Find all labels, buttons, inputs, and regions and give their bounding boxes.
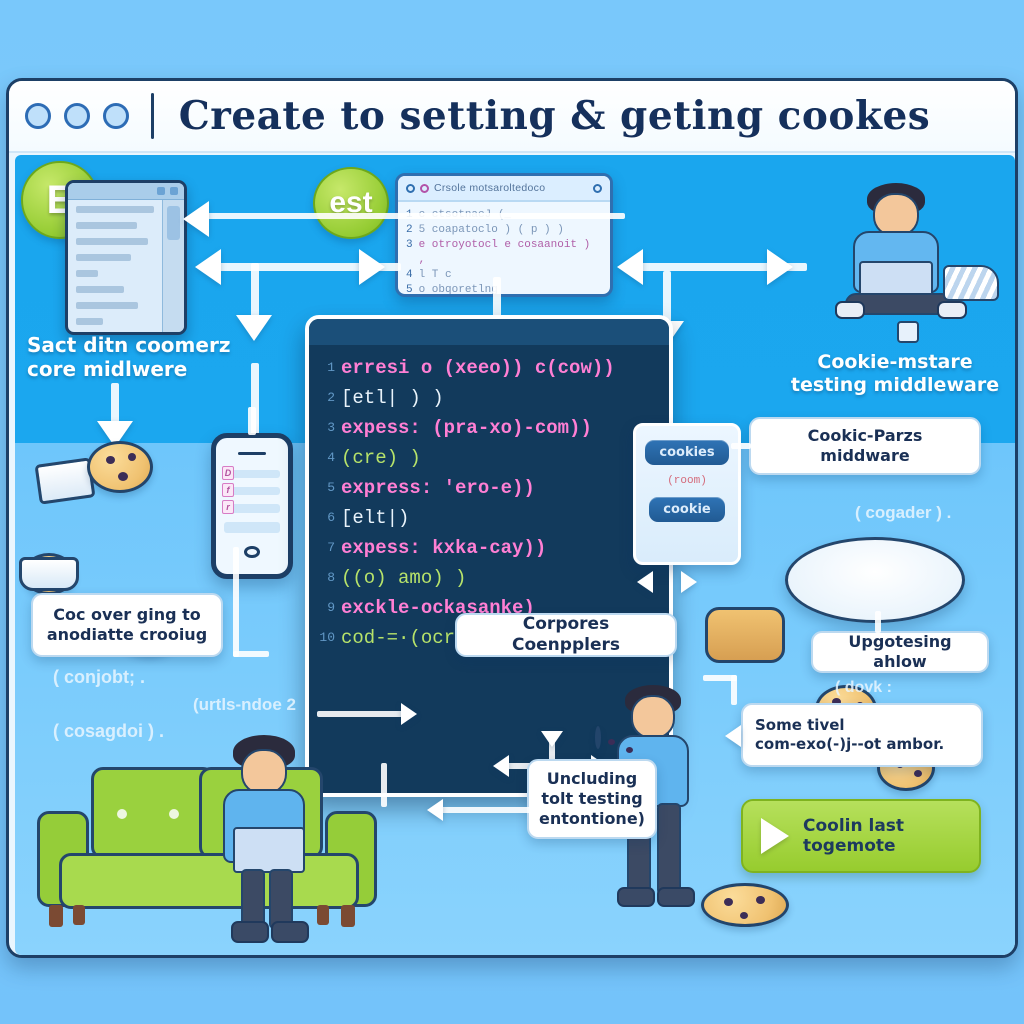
window-dot-3[interactable] [103,103,129,129]
sact-ditn-core-middleware-label: Sact ditn coomerz core midlwere [27,333,257,381]
line-number: 8 [315,563,335,593]
list-row [76,270,98,277]
list-row [76,206,154,213]
connector-line [875,611,881,633]
connector-line [233,651,269,657]
list-row [76,238,148,245]
sofa-cushion [91,767,215,859]
row-badge-icon: D [222,466,234,480]
arrow-head-left-icon [427,799,443,821]
papers-shape [943,265,999,301]
minimize-icon[interactable] [157,187,165,195]
arrow-head-left-icon [637,571,653,593]
list-window-rows [68,200,162,335]
console-line: 4l T c [406,268,602,283]
shoe-shape [617,887,655,907]
cushion-button [117,809,127,819]
row-badge-icon: r [222,500,234,514]
head-shape [631,695,675,739]
row-badge-icon: f [222,483,234,497]
editor-gutter: 1 2 3 4 5 6 7 8 9 10 [315,353,341,653]
arrow-head-right-icon [681,571,697,593]
page-title: Create to setting & geting cookes [154,93,1015,139]
line-number: 7 [315,533,335,563]
list-row [76,222,137,229]
console-titlebar: Crsole motsaroltedoco [398,176,610,202]
person-on-sofa-illustration [211,735,331,945]
connector-line [233,547,239,657]
code-line: [etl| ) ) [341,383,663,413]
phone-notch [238,452,266,455]
arrow-head-right-icon [401,703,417,725]
shoe-shape [937,301,967,319]
maximize-icon[interactable] [170,187,178,195]
sofa-leg [73,905,85,925]
upgotesing-callout[interactable]: Upgotesing ahlow [811,631,989,673]
cookie-plate [785,537,965,623]
leg-shape [241,869,265,929]
code-line: erresi o (xeeo)) c(cow)) [341,353,663,383]
cookie-pill-button[interactable]: cookie [649,497,725,522]
arrow-head-left-icon [493,755,509,777]
connector-line [441,807,533,813]
arrow-head-right-icon [359,249,385,285]
cookie-parser-callout[interactable]: Cookic-Parzs middware [749,417,981,475]
line-text: e otroyotocl e cosaanoit ) , [419,238,602,268]
urtle-ndoe-label: (urtls-ndoe 2 [193,695,296,715]
person-with-laptop-illustration [825,175,985,325]
line-text: l T c [419,268,452,283]
line-number: 2 [406,223,413,238]
badge-est: est [313,167,389,239]
connector-line [731,443,751,449]
window-titlebar: Create to setting & geting cookes [9,81,1015,153]
cos-over-ging-callout[interactable]: Coc over ging to anodiatte crooiug [31,593,223,657]
connector-line [731,675,737,705]
connector-line [251,263,259,319]
console-line: 3e otroyotocl e cosaanoit ) , [406,238,602,268]
connector-line [381,763,387,807]
line-number: 3 [315,413,335,443]
chip-panel-note: (room) [667,475,707,487]
held-cookie-icon [595,726,601,749]
code-line: expess: (pra-xo)-com)) [341,413,663,443]
cup-shape [897,321,919,343]
phone-list-row[interactable]: r [224,504,280,512]
line-number: 4 [315,443,335,473]
corpores-callout[interactable]: Corpores Coenpplers [455,613,677,657]
sofa-leg [341,905,355,927]
line-number: 2 [315,383,335,413]
cookies-pill-button[interactable]: cookies [645,440,728,465]
console-line: 5o obqoretlng [406,283,602,297]
line-number: 10 [315,623,335,653]
browser-window: Create to setting & geting cookes E [6,78,1018,958]
play-icon [761,818,789,854]
line-number: 5 [406,283,413,297]
phone-home-button[interactable] [244,546,260,558]
cogader-label: ( cogader ) . [855,503,951,523]
arrow-head-left-icon [617,249,643,285]
code-list-window[interactable] [65,180,187,335]
arrow-head-right-icon [767,249,793,285]
line-text: 5 coapatoclo ) ( p ) ) [419,223,564,238]
console-title: Crsole motsaroltedoco [434,182,588,194]
cushion-button [169,809,179,819]
code-line: expess: kxka-cay)) [341,533,663,563]
cta-label: Coolin last togemote [803,816,904,857]
phone-list-row[interactable] [224,522,280,533]
line-number: 6 [315,503,335,533]
console-code-window[interactable]: Crsole motsaroltedoco 1c ctsotnacJ (_ 25… [395,173,613,297]
window-dot-icon[interactable] [420,184,429,193]
list-row [76,318,103,325]
line-number: 4 [406,268,413,283]
cookie-testing-middleware-label: Cookie-mstare testing middleware [777,351,1013,397]
code-line: express: 'ero-e)) [341,473,663,503]
close-icon[interactable] [593,184,602,193]
cookie-chip-panel[interactable]: cookies (room) cookie [633,423,741,565]
cookie-stack [705,607,785,663]
list-scrollbar[interactable] [162,200,184,335]
laptop-shape [233,827,305,873]
window-dot-1[interactable] [25,103,51,129]
line-number: 9 [315,593,335,623]
line-number: 5 [315,473,335,503]
cookie-icon [87,441,153,493]
list-row [76,302,138,309]
sofa-leg [49,905,63,927]
line-number: 3 [406,238,413,268]
window-controls[interactable] [25,103,129,129]
console-line: 25 coapatoclo ) ( p ) ) [406,223,602,238]
list-row [76,286,124,293]
shoe-shape [657,887,695,907]
phone-list-row[interactable]: D [224,470,280,478]
arrow-head-down-icon [541,731,563,747]
shoe-shape [835,301,865,319]
cookie-test-cta-button[interactable]: Coolin last togemote [741,799,981,873]
line-number: 1 [315,353,335,383]
leg-shape [657,803,681,895]
shoe-shape [231,921,269,943]
plate-stack-shape [19,557,79,591]
conjobt-label: ( conjobt; . [53,667,145,688]
code-line: (cre) ) [341,443,663,473]
connector-line [317,711,403,717]
window-dot-2[interactable] [64,103,90,129]
list-row [76,254,131,261]
arrow-head-left-icon [183,201,209,237]
dovk-label: ( dovk : [835,679,892,697]
arrow-head-left-icon [725,725,741,747]
cosagdoi-label: ( cosagdoi ) . [53,721,164,742]
diagram-canvas: E [15,155,1015,955]
list-window-body [68,200,184,335]
uncluding-testing-callout[interactable]: Uncluding tolt testing entontione) [527,759,657,839]
phone-list-row[interactable]: f [224,487,280,495]
leg-shape [269,869,293,929]
code-line: ((o) amo) ) [341,563,663,593]
arrow-head-left-icon [195,249,221,285]
shoe-shape [271,921,309,943]
editor-titlebar [309,319,669,345]
editor-body: 1 2 3 4 5 6 7 8 9 10 erresi o (xeeo)) c(… [309,345,669,659]
connector-line [248,407,256,435]
cookie-icon [701,883,789,927]
connector-line [195,213,625,219]
some-tivel-callout[interactable]: Some tivel com-exo(-)j--ot ambor. [741,703,983,767]
line-text: o obqoretlng [419,283,498,297]
phone-mockup[interactable]: D f r [211,433,293,579]
window-dot-icon[interactable] [406,184,415,193]
list-window-titlebar [68,183,184,200]
editor-code[interactable]: erresi o (xeeo)) c(cow)) [etl| ) ) expes… [341,353,663,653]
code-line: [elt|) [341,503,663,533]
